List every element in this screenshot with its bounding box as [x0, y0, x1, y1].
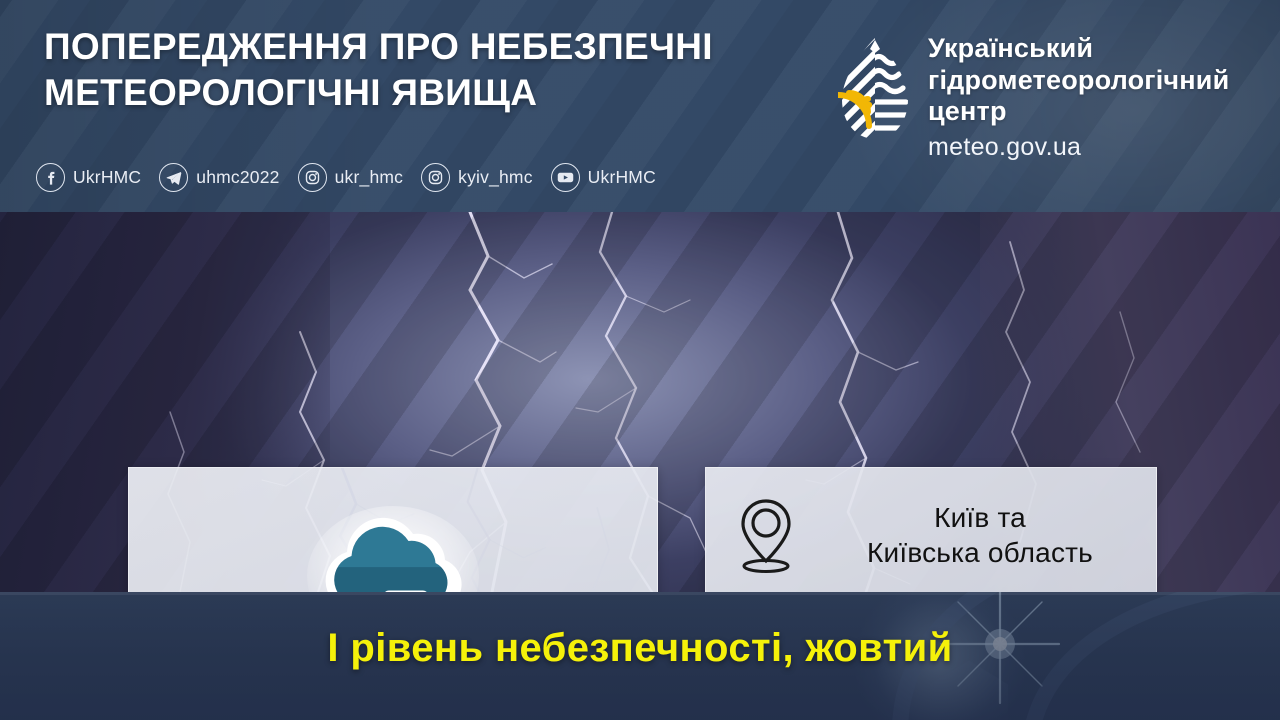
- banner-top-divider: [0, 592, 1280, 595]
- thunderstorm-icon: [305, 504, 481, 592]
- social-links: UkrHMC uhmc2022: [36, 163, 674, 192]
- location-line-1: Київ та: [826, 500, 1134, 535]
- page-title-line-2: МЕТЕОРОЛОГІЧНІ ЯВИЩА: [44, 70, 824, 116]
- instagram-icon: [298, 163, 327, 192]
- warning-infographic: ПОПЕРЕДЖЕННЯ ПРО НЕБЕЗПЕЧНІ МЕТЕОРОЛОГІЧ…: [0, 0, 1280, 720]
- ukrhmc-droplet-logo-icon: [838, 36, 912, 142]
- youtube-icon: [551, 163, 580, 192]
- social-link-youtube[interactable]: UkrHMC: [551, 163, 656, 192]
- facebook-icon: [36, 163, 65, 192]
- social-label-youtube: UkrHMC: [588, 167, 656, 188]
- social-link-instagram-ukr[interactable]: ukr_hmc: [298, 163, 404, 192]
- brand-line-1: Український: [928, 33, 1229, 65]
- telegram-icon: [159, 163, 188, 192]
- social-label-telegram: uhmc2022: [196, 167, 279, 188]
- location-text: Київ та Київська область: [826, 500, 1156, 571]
- organization-logo-block: Український гідрометеорологічний центр m…: [838, 33, 1229, 162]
- social-link-facebook[interactable]: UkrHMC: [36, 163, 141, 192]
- storm-photo-section: Гроза Київ та Київська область: [0, 212, 1280, 592]
- website-url[interactable]: meteo.gov.ua: [928, 133, 1229, 162]
- brand-line-2: гідрометеорологічний: [928, 65, 1229, 97]
- brand-line-3: центр: [928, 96, 1229, 128]
- location-panel: Київ та Київська область: [705, 467, 1157, 592]
- social-label-instagram-kyiv: kyiv_hmc: [458, 167, 533, 188]
- social-label-facebook: UkrHMC: [73, 167, 141, 188]
- danger-level-text: І рівень небезпечності, жовтий: [0, 626, 1280, 671]
- organization-name: Український гідрометеорологічний центр m…: [928, 33, 1229, 162]
- social-link-telegram[interactable]: uhmc2022: [159, 163, 279, 192]
- instagram-icon: [421, 163, 450, 192]
- social-label-instagram-ukr: ukr_hmc: [335, 167, 404, 188]
- page-title: ПОПЕРЕДЖЕННЯ ПРО НЕБЕЗПЕЧНІ МЕТЕОРОЛОГІЧ…: [44, 24, 824, 116]
- social-link-instagram-kyiv[interactable]: kyiv_hmc: [421, 163, 533, 192]
- header-banner: ПОПЕРЕДЖЕННЯ ПРО НЕБЕЗПЕЧНІ МЕТЕОРОЛОГІЧ…: [0, 0, 1280, 212]
- page-title-line-1: ПОПЕРЕДЖЕННЯ ПРО НЕБЕЗПЕЧНІ: [44, 24, 824, 70]
- location-pin-icon: [706, 495, 826, 575]
- phenomenon-card: [128, 467, 658, 592]
- location-line-2: Київська область: [826, 535, 1134, 570]
